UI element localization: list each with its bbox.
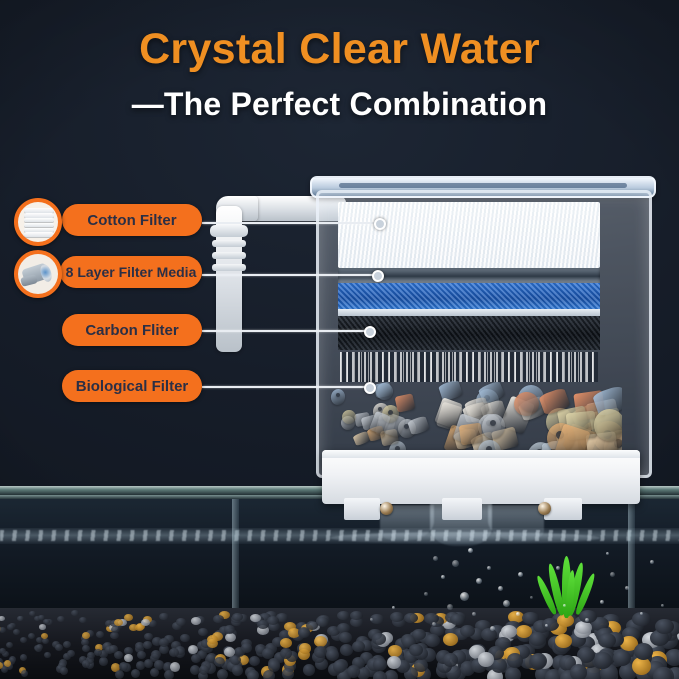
gravel-stone: [136, 661, 145, 670]
leader-line-3: [202, 386, 368, 388]
bio-media-hole: [336, 393, 340, 397]
page-title: Crystal Clear Water: [0, 28, 679, 71]
gravel-stone: [55, 644, 63, 651]
gravel-stone: [82, 632, 90, 639]
filter-base: [322, 450, 640, 504]
aquarium-plant: [538, 556, 600, 622]
gravel-stone: [99, 657, 108, 666]
gravel-stone: [79, 617, 87, 623]
gravel-stone: [333, 660, 346, 673]
leader-line-2: [202, 330, 368, 332]
gravel-stone: [507, 653, 523, 668]
bubble: [476, 578, 482, 584]
gravel-stone: [303, 664, 315, 676]
callout-label-2: Carbon Fliter: [85, 322, 178, 339]
gravel-stone: [119, 662, 128, 671]
filter-lid-slot: [339, 183, 626, 188]
gravel-stone: [154, 660, 164, 670]
product-marketing-image: Crystal Clear Water —The Perfect Combina…: [0, 0, 679, 679]
gravel-stone: [188, 645, 198, 654]
gravel-stone: [109, 645, 118, 653]
gravel-stone: [13, 629, 20, 635]
gravel-stone: [481, 628, 497, 641]
gravel-stone: [326, 649, 339, 661]
gravel-stone: [262, 648, 274, 659]
gravel-stone: [425, 634, 440, 647]
gravel-stone: [241, 643, 252, 653]
gravel-stone: [199, 665, 209, 675]
gravel-stone: [598, 633, 616, 648]
callout-label-1: 8 Layer Filter Media: [66, 264, 197, 280]
bio-media-piece: [459, 423, 484, 446]
gravel-stone: [176, 618, 186, 626]
bubble: [392, 606, 395, 609]
gravel-stone: [460, 625, 475, 637]
gravel-stone: [96, 631, 104, 638]
layer-carbon-filter: [338, 316, 600, 350]
bubble: [424, 592, 428, 596]
inlet-pipe-rib-3: [212, 264, 246, 271]
callout-pill-1[interactable]: 8 Layer Filter Media: [60, 256, 202, 288]
gravel-stone: [164, 670, 174, 679]
gravel-stone: [530, 653, 547, 669]
gravel-stone: [247, 671, 258, 679]
gravel-stone: [505, 667, 521, 679]
leader-line-1: [202, 274, 376, 276]
gravel-stone: [224, 625, 235, 634]
bubble: [460, 592, 469, 601]
gravel-stone: [169, 648, 179, 657]
gravel-stone: [443, 633, 458, 646]
gravel-stone: [131, 669, 140, 678]
gravel-stone: [141, 619, 150, 626]
gravel-stone: [20, 654, 27, 661]
gravel-stone: [594, 652, 612, 669]
gravel-stone: [232, 665, 243, 676]
bio-media-piece: [594, 409, 622, 441]
bubble: [447, 604, 453, 610]
gravel-stone: [41, 633, 48, 639]
callout-label-0: Cotton Filter: [87, 212, 176, 229]
water-splash-spread: [330, 532, 600, 544]
page-subtitle: —The Perfect Combination: [0, 88, 679, 120]
gravel-stone: [143, 641, 152, 649]
bubble: [432, 622, 436, 626]
gravel-stone: [42, 638, 49, 644]
bubble: [625, 586, 629, 590]
bio-media-piece: [395, 393, 416, 412]
bubble: [490, 626, 495, 631]
headline-block: Crystal Clear Water —The Perfect Combina…: [0, 28, 679, 120]
bubble: [585, 618, 589, 622]
bubble: [661, 604, 664, 607]
gravel-stone: [20, 637, 27, 643]
bubble: [441, 575, 445, 579]
gravel-stone: [82, 660, 90, 668]
gravel-stone: [224, 647, 235, 657]
callout-pill-0[interactable]: Cotton Filter: [62, 204, 202, 236]
gravel-stone: [282, 668, 294, 679]
gravel-stone: [191, 617, 201, 625]
bio-media-piece: [376, 383, 394, 400]
gravel-stone: [115, 670, 124, 679]
cotton-pad-icon: [14, 198, 62, 246]
gravel-stone: [347, 665, 360, 678]
gravel-stone: [268, 660, 280, 672]
filter-roll-icon-art: [18, 254, 58, 294]
gravel-stone: [655, 619, 674, 634]
gravel-stone: [7, 624, 14, 630]
aquarium-filter-unit: [316, 176, 646, 510]
gravel-stone: [39, 624, 46, 630]
bubble: [530, 596, 533, 599]
bubble: [370, 618, 373, 621]
gravel-stone: [267, 616, 279, 625]
suction-cup-left: [380, 502, 393, 515]
gravel-stone: [299, 643, 311, 654]
filter-foot-center: [442, 498, 482, 520]
bubble: [468, 548, 473, 553]
bio-media-piece: [407, 415, 430, 435]
suction-cup-right: [538, 502, 551, 515]
filter-roll-icon: [14, 250, 62, 298]
gravel-stone: [373, 671, 387, 679]
leader-dot-1: [372, 270, 384, 282]
gravel-stone: [0, 627, 6, 633]
bubble: [503, 600, 510, 607]
inlet-pipe-rib-1: [212, 240, 246, 247]
callout-pill-2[interactable]: Carbon Fliter: [62, 314, 202, 346]
gravel-stone: [63, 641, 71, 648]
bubble: [563, 604, 566, 607]
gravel-stone: [57, 616, 65, 622]
gravel-stone: [501, 625, 517, 638]
gravel-stone: [159, 638, 169, 647]
gravel-stone: [653, 667, 672, 679]
filter-foot-left: [344, 498, 380, 520]
gravel-stone: [634, 643, 653, 660]
leader-dot-2: [364, 326, 376, 338]
inlet-pipe-collar: [210, 225, 248, 237]
gravel-stone: [28, 633, 35, 639]
bubble: [452, 560, 459, 567]
gravel-stone: [217, 669, 228, 679]
bubble: [487, 566, 491, 570]
bubble: [516, 612, 520, 616]
bubble: [610, 572, 615, 577]
inlet-pipe-rib-2: [212, 252, 246, 259]
bio-media-hole: [388, 410, 393, 415]
bubble: [600, 600, 604, 604]
bio-media-chamber: [330, 368, 622, 460]
bubble: [640, 612, 643, 615]
bubble: [518, 572, 523, 577]
bubble: [545, 624, 548, 627]
leader-dot-3: [364, 382, 376, 394]
callout-label-3: Biological Filter: [76, 378, 189, 395]
gravel-stone: [298, 628, 310, 638]
layer-blue-media: [338, 283, 600, 309]
gravel-stone: [21, 670, 28, 677]
callout-pill-3[interactable]: Biological Filter: [62, 370, 202, 402]
gravel-stone: [71, 610, 79, 616]
gravel-stone: [314, 646, 327, 658]
bubble: [650, 560, 654, 564]
filter-base-lip: [322, 450, 640, 458]
bubble: [472, 612, 476, 616]
leader-dot-0: [374, 218, 386, 230]
gravel-stone: [529, 632, 546, 646]
gravel-stone: [443, 653, 458, 667]
gravel-stone: [114, 619, 123, 626]
leader-line-0: [202, 222, 378, 224]
gravel-stone: [60, 667, 68, 675]
gravel-stone: [280, 648, 292, 659]
bubble: [556, 566, 560, 570]
layer-white-divider: [338, 309, 600, 316]
bubble: [498, 586, 503, 591]
bubble: [433, 556, 438, 561]
gravel-stone: [372, 633, 386, 645]
gravel-stone: [478, 652, 494, 667]
gravel-stone: [570, 664, 587, 679]
layer-cotton-filter: [338, 202, 600, 268]
bubble: [606, 552, 609, 555]
gravel-stone: [339, 632, 352, 643]
cotton-pad-icon-art: [18, 202, 58, 242]
